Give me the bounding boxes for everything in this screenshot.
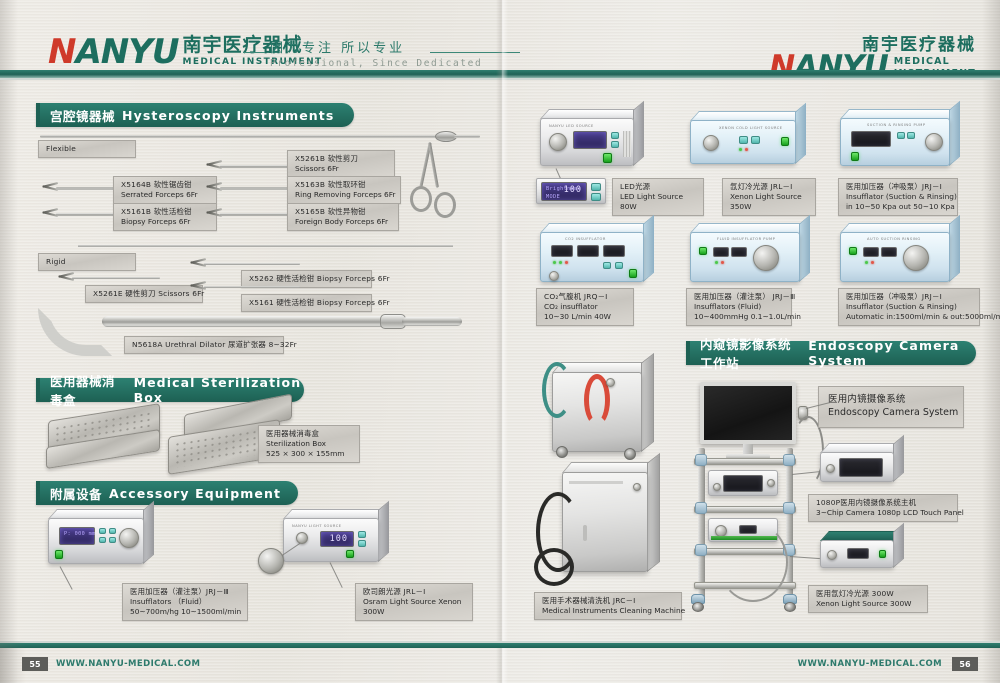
caption-x5161b: X5161B 软性活检钳 Biopsy Forceps 6Fr <box>113 203 217 231</box>
device-brand-text: NANYU LED SOURCE <box>549 124 594 128</box>
caster-wheel <box>556 446 568 458</box>
device-xenon-light-source: XENON COLD LIGHT SOURCE <box>690 120 796 164</box>
caption-r1-cn: LED光源 <box>620 182 696 192</box>
power-button[interactable] <box>603 153 612 163</box>
display-line-p: P: 000 mm <box>64 531 91 537</box>
caption-r4-spec: 10~30 L/min 40W <box>544 312 626 322</box>
power-button[interactable] <box>699 247 707 255</box>
device-button[interactable] <box>358 540 366 547</box>
caption-xenon-300w: 医用氙灯冷光源 300W Xenon Light Source 300W <box>808 585 928 613</box>
logo-left-wordmark: NANYU <box>48 37 178 68</box>
page-edge-right <box>982 0 1000 683</box>
device-button[interactable] <box>615 262 623 269</box>
caption-x5261b-en: Scissors 6Fr <box>295 164 387 174</box>
device-button[interactable] <box>751 136 760 144</box>
cart-clamp <box>783 502 795 514</box>
caption-r2-spec: 350W <box>730 202 808 212</box>
cart-clamp <box>695 454 707 466</box>
logo-left-n: N <box>48 32 75 72</box>
device-button[interactable] <box>611 132 619 139</box>
device-brand-text: CO2 INSUFFLATOR <box>565 237 606 241</box>
device-osram-light-source: NANYU LIGHT SOURCE 100 <box>283 518 379 562</box>
caption-acc1-en: Insufflators （Fluid） <box>130 597 240 607</box>
website-url-left: WWW.NANYU-MEDICAL.COM <box>56 659 200 669</box>
device-display <box>573 131 607 149</box>
display-value: 100 <box>330 534 348 544</box>
caster-wheel <box>624 448 636 460</box>
caption-x5161b-cn: X5161B 软性活检钳 <box>121 207 209 217</box>
device-brand-text: FLUID INSUFFLATOR PUMP <box>717 237 775 241</box>
cart-camera-control-unit <box>708 470 778 496</box>
caption-x5164b-cn: X5164B 软性锯齿钳 <box>121 180 209 190</box>
instrument-shaft <box>204 263 300 265</box>
caption-1080p-camera: 1080P医用内镜摄像系统主机 3~Chip Camera 1080p LCD … <box>808 494 958 522</box>
device-xenon-300w <box>820 540 894 568</box>
caption-insufflator-fluid-roller: 医用加压器（灌注泵） JRJ－Ⅲ Insufflators (Fluid) 10… <box>686 288 792 326</box>
section-header-hysteroscopy: 宫腔镜器械 Hysteroscopy Instruments <box>36 103 354 127</box>
slogan-cn: 因为专注 所以专业 <box>270 42 500 56</box>
caption-sterilization-en: Sterilization Box <box>266 439 352 449</box>
cart-post-left <box>698 448 705 598</box>
caption-x5165b: X5165B 软性异物钳 Foreign Body Forceps 6Fr <box>287 203 399 231</box>
device-button[interactable] <box>99 537 106 543</box>
instrument-shaft <box>72 277 160 279</box>
device-display <box>551 245 573 257</box>
forceps-handle-illustration <box>398 142 478 232</box>
cart-clamp <box>695 544 707 556</box>
gas-port <box>549 271 559 281</box>
roller-pump[interactable] <box>925 133 943 151</box>
slogan-en: Professional, Since Dedicated <box>270 58 500 69</box>
caption-r3-spec: in 10~50 Kpa out 50~10 Kpa <box>846 202 950 212</box>
caption-osram-light: 欧司朗光源 JRL－Ⅰ Osram Light Source Xenon 300… <box>355 583 473 621</box>
leader-line <box>330 562 343 588</box>
device-insufflator-automatic: AUTO SUCTION RINSING <box>840 232 950 282</box>
device-button[interactable] <box>358 531 366 538</box>
power-button[interactable] <box>629 269 637 278</box>
cart-caster-left <box>690 594 706 612</box>
device-display <box>577 245 599 257</box>
device-button[interactable] <box>109 528 116 534</box>
caption-r3-cn: 医用加压器（冲吸泵）JRJ－Ⅰ <box>846 182 950 192</box>
page-number-right: 56 <box>952 657 978 671</box>
caption-acc1-cn: 医用加压器（灌注泵）JRJ－Ⅲ <box>130 587 240 597</box>
device-button[interactable] <box>907 132 915 139</box>
device-display <box>603 245 625 257</box>
caption-r4-en: CO₂ insufflator <box>544 302 626 312</box>
caption-x5262-cn: X5262 硬性活检钳 Biopsy Forceps 6Fr <box>249 274 364 284</box>
caption-r5-cn: 医用加压器（灌注泵） JRJ－Ⅲ <box>694 292 784 302</box>
device-insufflator-fluid: P: 000 mm <box>48 518 144 564</box>
light-guide-cable <box>718 522 788 602</box>
rigid-hysteroscope-shaft <box>78 245 453 247</box>
device-button[interactable] <box>739 136 748 144</box>
device-display: P: 000 mm <box>59 527 95 545</box>
caption-insufflator-fluid: 医用加压器（灌注泵）JRJ－Ⅲ Insufflators （Fluid） 50~… <box>122 583 248 621</box>
cart-monitor <box>700 382 796 444</box>
group-label-flexible: Flexible <box>38 140 136 158</box>
device-insufflator-suction-rinsing: SUCTION & RINSING PUMP <box>840 118 950 166</box>
cabinet-label-strip <box>569 481 623 484</box>
caption-camera-system-main: 医用内镜摄像系统 Endoscopy Camera System <box>818 386 964 428</box>
leader-line <box>60 566 73 589</box>
device-1080p-camera-host <box>820 452 894 482</box>
device-display <box>731 247 747 257</box>
power-button[interactable] <box>849 247 857 255</box>
device-knob[interactable] <box>549 133 567 151</box>
caption-r2-en: Xenon Light Source <box>730 192 808 202</box>
caption-cam3-en: Xenon Light Source 300W <box>816 599 920 609</box>
caption-r3-en: Insufflator (Suction & Rinsing) <box>846 192 950 202</box>
power-button[interactable] <box>851 152 859 161</box>
closeup-button[interactable] <box>591 183 601 191</box>
website-url-right: WWW.NANYU-MEDICAL.COM <box>798 659 942 669</box>
logo-right-en-line1: MEDICAL <box>894 56 976 68</box>
page-number-left: 55 <box>22 657 48 671</box>
caption-xenon-light-source: 氙灯冷光源 JRL－Ⅰ Xenon Light Source 350W <box>722 178 816 216</box>
caption-insufflator-automatic: 医用加压器（冲吸泵）JRJ－Ⅰ Insufflator (Suction & R… <box>838 288 980 326</box>
xenon-display <box>847 548 869 559</box>
page-edge-left <box>0 0 18 683</box>
caption-x5261e-cn: X5261E 硬性剪刀 Scissors 6Fr <box>93 289 195 299</box>
caption-x5165b-en: Foreign Body Forceps 6Fr <box>295 217 391 227</box>
caption-r6-en: Insufflator (Suction & Rinsing) <box>846 302 972 312</box>
caption-led-light-source: LED光源 LED Light Source 80W <box>612 178 704 216</box>
section-header-hysteroscopy-cn: 宫腔镜器械 <box>50 106 115 125</box>
caption-x5161b-en: Biopsy Forceps 6Fr <box>121 217 209 227</box>
caption-acc2-cn: 欧司朗光源 JRL－Ⅰ <box>363 587 465 597</box>
indicator-leds <box>715 261 724 264</box>
caption-x5163b-en: Ring Removing Forceps 6Fr <box>295 190 393 200</box>
group-label-rigid-text: Rigid <box>46 257 128 267</box>
device-brand-text: SUCTION & RINSING PUMP <box>867 123 926 127</box>
caption-cam1-en: Endoscopy Camera System <box>828 407 954 420</box>
power-button[interactable] <box>781 137 789 146</box>
roller-pump[interactable] <box>903 245 929 271</box>
section-header-camera-cn: 内窥镜影像系统工作站 <box>700 334 801 372</box>
instrument-shaft <box>220 213 296 216</box>
section-header-camera-en: Endoscopy Camera System <box>808 338 976 368</box>
device-button[interactable] <box>603 262 611 269</box>
caption-acc2-spec: 300W <box>363 607 465 617</box>
device-button[interactable] <box>611 141 619 148</box>
closeup-mode-label: MODE <box>546 194 583 200</box>
instrument-shaft <box>220 165 296 168</box>
cart-shelf-2 <box>694 506 796 513</box>
hose-coil-teal <box>542 362 572 418</box>
section-header-accessory-en: Accessory Equipment <box>109 486 281 501</box>
caption-x5163b: X5163B 软性取环钳 Ring Removing Forceps 6Fr <box>287 176 401 204</box>
panel-closeup-led: Brightness 100 MODE <box>536 178 606 204</box>
power-button[interactable] <box>879 550 886 558</box>
monitor-screen <box>700 382 796 444</box>
page-footer: 55 WWW.NANYU-MEDICAL.COM WWW.NANYU-MEDIC… <box>0 641 1000 683</box>
device-display <box>881 247 897 257</box>
caption-n5618a-cn: N5618A Urethral Dilator 尿道扩张器 8~32Fr <box>132 340 276 350</box>
hose-loop-black <box>534 548 574 586</box>
device-button[interactable] <box>897 132 905 139</box>
light-guide-cap-icon <box>258 548 284 574</box>
caption-sterilization-box: 医用器械消毒盒 Sterilization Box 525 × 300 × 15… <box>258 425 360 463</box>
caption-r6-spec: Automatic in:1500ml/min & out:5000ml/min <box>846 312 972 322</box>
cart-clamp <box>695 502 707 514</box>
section-header-hysteroscopy-en: Hysteroscopy Instruments <box>122 108 334 123</box>
cabinet-knob[interactable] <box>633 483 641 491</box>
ccu-knob[interactable] <box>713 483 721 491</box>
caption-r5-spec: 10~400mmHg 0.1~1.0L/min <box>694 312 784 322</box>
light-port <box>703 135 719 151</box>
closeup-display: Brightness 100 MODE <box>541 182 587 201</box>
logo-left-anyu: ANYU <box>75 32 178 72</box>
ccu-display <box>723 475 763 492</box>
section-header-accessory: 附属设备 Accessory Equipment <box>36 481 298 505</box>
section-header-camera-system: 内窥镜影像系统工作站 Endoscopy Camera System <box>686 341 976 365</box>
door-handle[interactable] <box>583 525 587 541</box>
caption-x5163b-cn: X5163B 软性取环钳 <box>295 180 393 190</box>
caption-r6-cn: 医用加压器（冲吸泵）JRJ－Ⅰ <box>846 292 972 302</box>
device-insufflator-fluid-roller: FLUID INSUFFLATOR PUMP <box>690 232 800 282</box>
cart-caster-right <box>782 594 798 612</box>
indicator-leds <box>739 148 748 151</box>
slogan-dash-left <box>243 52 265 53</box>
caption-r4-cn: CO₂气腹机 JRQ－Ⅰ <box>544 292 626 302</box>
section-header-sterilization-cn: 医用器械消毒盒 <box>50 371 127 409</box>
device-brand-text: NANYU LIGHT SOURCE <box>292 524 342 528</box>
power-button[interactable] <box>55 550 63 559</box>
sterilization-box-closed <box>44 412 164 468</box>
group-label-rigid: Rigid <box>38 253 136 271</box>
caption-r1-spec: 80W <box>620 202 696 212</box>
caption-x5164b: X5164B 软性锯齿钳 Serrated Forceps 6Fr <box>113 176 217 204</box>
section-header-accessory-cn: 附属设备 <box>50 484 102 503</box>
cart-shelf-1 <box>694 458 796 465</box>
device-display <box>851 131 891 147</box>
caption-cam1-cn: 医用内镜摄像系统 <box>828 394 954 407</box>
caption-r2-cn: 氙灯冷光源 JRL－Ⅰ <box>730 182 808 192</box>
caption-n5618a: N5618A Urethral Dilator 尿道扩张器 8~32Fr <box>124 336 284 354</box>
caption-x5261b: X5261B 软性剪刀 Scissors 6Fr <box>287 150 395 178</box>
cart-post-right <box>786 448 793 598</box>
device-co2-insufflator: CO2 INSUFFLATOR <box>540 232 644 282</box>
caption-r5-en: Insufflators (Fluid) <box>694 302 784 312</box>
caption-cam3-cn: 医用氙灯冷光源 300W <box>816 589 920 599</box>
light-port <box>827 550 837 560</box>
caption-cam2-cn: 1080P医用内镜摄像系统主机 <box>816 498 950 508</box>
host-touch-panel[interactable] <box>839 458 883 477</box>
closeup-button[interactable] <box>591 193 601 201</box>
group-label-flexible-text: Flexible <box>46 144 128 154</box>
caption-sterilization-size: 525 × 300 × 155mm <box>266 449 352 459</box>
caption-acc2-en: Osram Light Source Xenon <box>363 597 465 607</box>
caption-co2-insufflator: CO₂气腹机 JRQ－Ⅰ CO₂ insufflator 10~30 L/min… <box>536 288 634 326</box>
catalog-page: NANYU 南宇医疗器械 MEDICAL INSTRUMENT 因为专注 所以专… <box>0 0 1000 683</box>
caption-insufflator-suction: 医用加压器（冲吸泵）JRJ－Ⅰ Insufflator (Suction & R… <box>838 178 958 216</box>
device-button[interactable] <box>99 528 106 534</box>
host-port <box>826 464 835 473</box>
device-display <box>713 247 729 257</box>
roller-pump[interactable] <box>753 245 779 271</box>
caption-cleaning-machine: 医用手术器械清洗机 JRC－Ⅰ Medical Instruments Clea… <box>534 592 682 620</box>
caption-r1-en: LED Light Source <box>620 192 696 202</box>
device-button[interactable] <box>109 537 116 543</box>
device-brand-text: AUTO SUCTION RINSING <box>867 237 921 241</box>
instrument-shaft <box>204 286 300 288</box>
caption-x5164b-en: Serrated Forceps 6Fr <box>121 190 209 200</box>
page-spine <box>496 0 508 683</box>
device-display <box>863 247 879 257</box>
footer-rule <box>0 643 1000 648</box>
device-brand-text: XENON COLD LIGHT SOURCE <box>719 126 783 130</box>
spray-gun-icon <box>606 378 615 387</box>
caption-x5261b-cn: X5261B 软性剪刀 <box>295 154 387 164</box>
indicator-leds <box>865 261 874 264</box>
slogan-block: 因为专注 所以专业 Professional, Since Dedicated <box>270 42 500 69</box>
caption-x5165b-cn: X5165B 软性异物钳 <box>295 207 391 217</box>
caption-cleaning-cn: 医用手术器械清洗机 JRC－Ⅰ <box>542 596 674 606</box>
device-display: 100 <box>320 531 354 547</box>
instrument-shaft <box>220 187 296 190</box>
device-led-light-source: NANYU LED SOURCE <box>540 118 634 166</box>
device-knob[interactable] <box>119 528 139 548</box>
vent-grille <box>623 131 631 157</box>
light-port <box>296 532 308 544</box>
caption-sterilization-cn: 医用器械消毒盒 <box>266 429 352 439</box>
indicator-leds <box>553 261 568 264</box>
caption-acc1-spec: 50~700m/hg 10~1500ml/min <box>130 607 240 617</box>
ccu-port <box>767 479 775 487</box>
caption-cleaning-en: Medical Instruments Cleaning Machine <box>542 606 674 616</box>
power-button[interactable] <box>346 550 354 558</box>
caption-cam2-en: 3~Chip Camera 1080p LCD Touch Panel <box>816 508 950 518</box>
